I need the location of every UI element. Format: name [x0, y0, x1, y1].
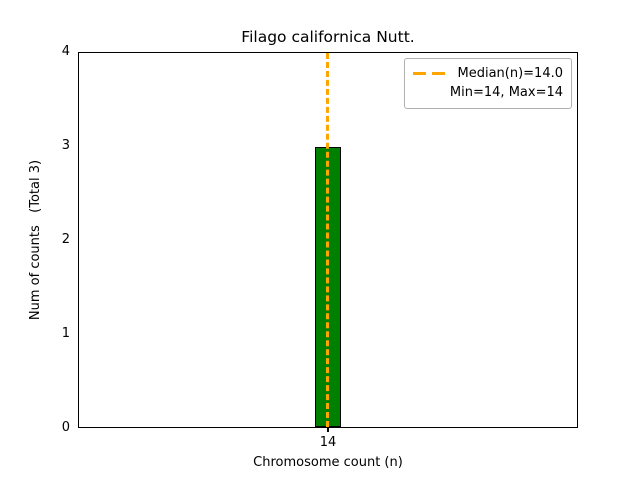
ytick-label-0: 0	[62, 419, 70, 437]
y-axis-label: Num of counts (Total 3)	[28, 52, 44, 428]
ytick-label-3: 3	[62, 137, 70, 155]
x-axis-label: Chromosome count (n)	[78, 454, 578, 472]
ytick-label-4: 4	[62, 43, 70, 61]
dashed-line-icon	[412, 64, 448, 83]
xtick-label-14: 14	[288, 434, 368, 452]
xtick-mark	[327, 428, 328, 432]
ytick-mark	[78, 146, 79, 147]
ytick-mark	[78, 333, 79, 334]
legend-item-median: Median(n)=14.0	[412, 64, 563, 83]
chart-legend: Median(n)=14.0 Min=14, Max=14	[404, 58, 572, 109]
ytick-mark	[78, 239, 79, 240]
chart-figure: Filago californica Nutt. Med	[0, 0, 640, 480]
ytick-mark	[78, 426, 79, 427]
legend-item-minmax: Min=14, Max=14	[412, 83, 563, 102]
legend-label-minmax: Min=14, Max=14	[450, 83, 563, 102]
legend-label-median: Median(n)=14.0	[457, 64, 563, 83]
ytick-label-1: 1	[62, 325, 70, 343]
median-line	[326, 53, 329, 427]
chart-title: Filago californica Nutt.	[78, 28, 578, 46]
ytick-mark	[78, 52, 79, 53]
plot-area: Median(n)=14.0 Min=14, Max=14	[78, 52, 578, 428]
ytick-label-2: 2	[62, 231, 70, 249]
